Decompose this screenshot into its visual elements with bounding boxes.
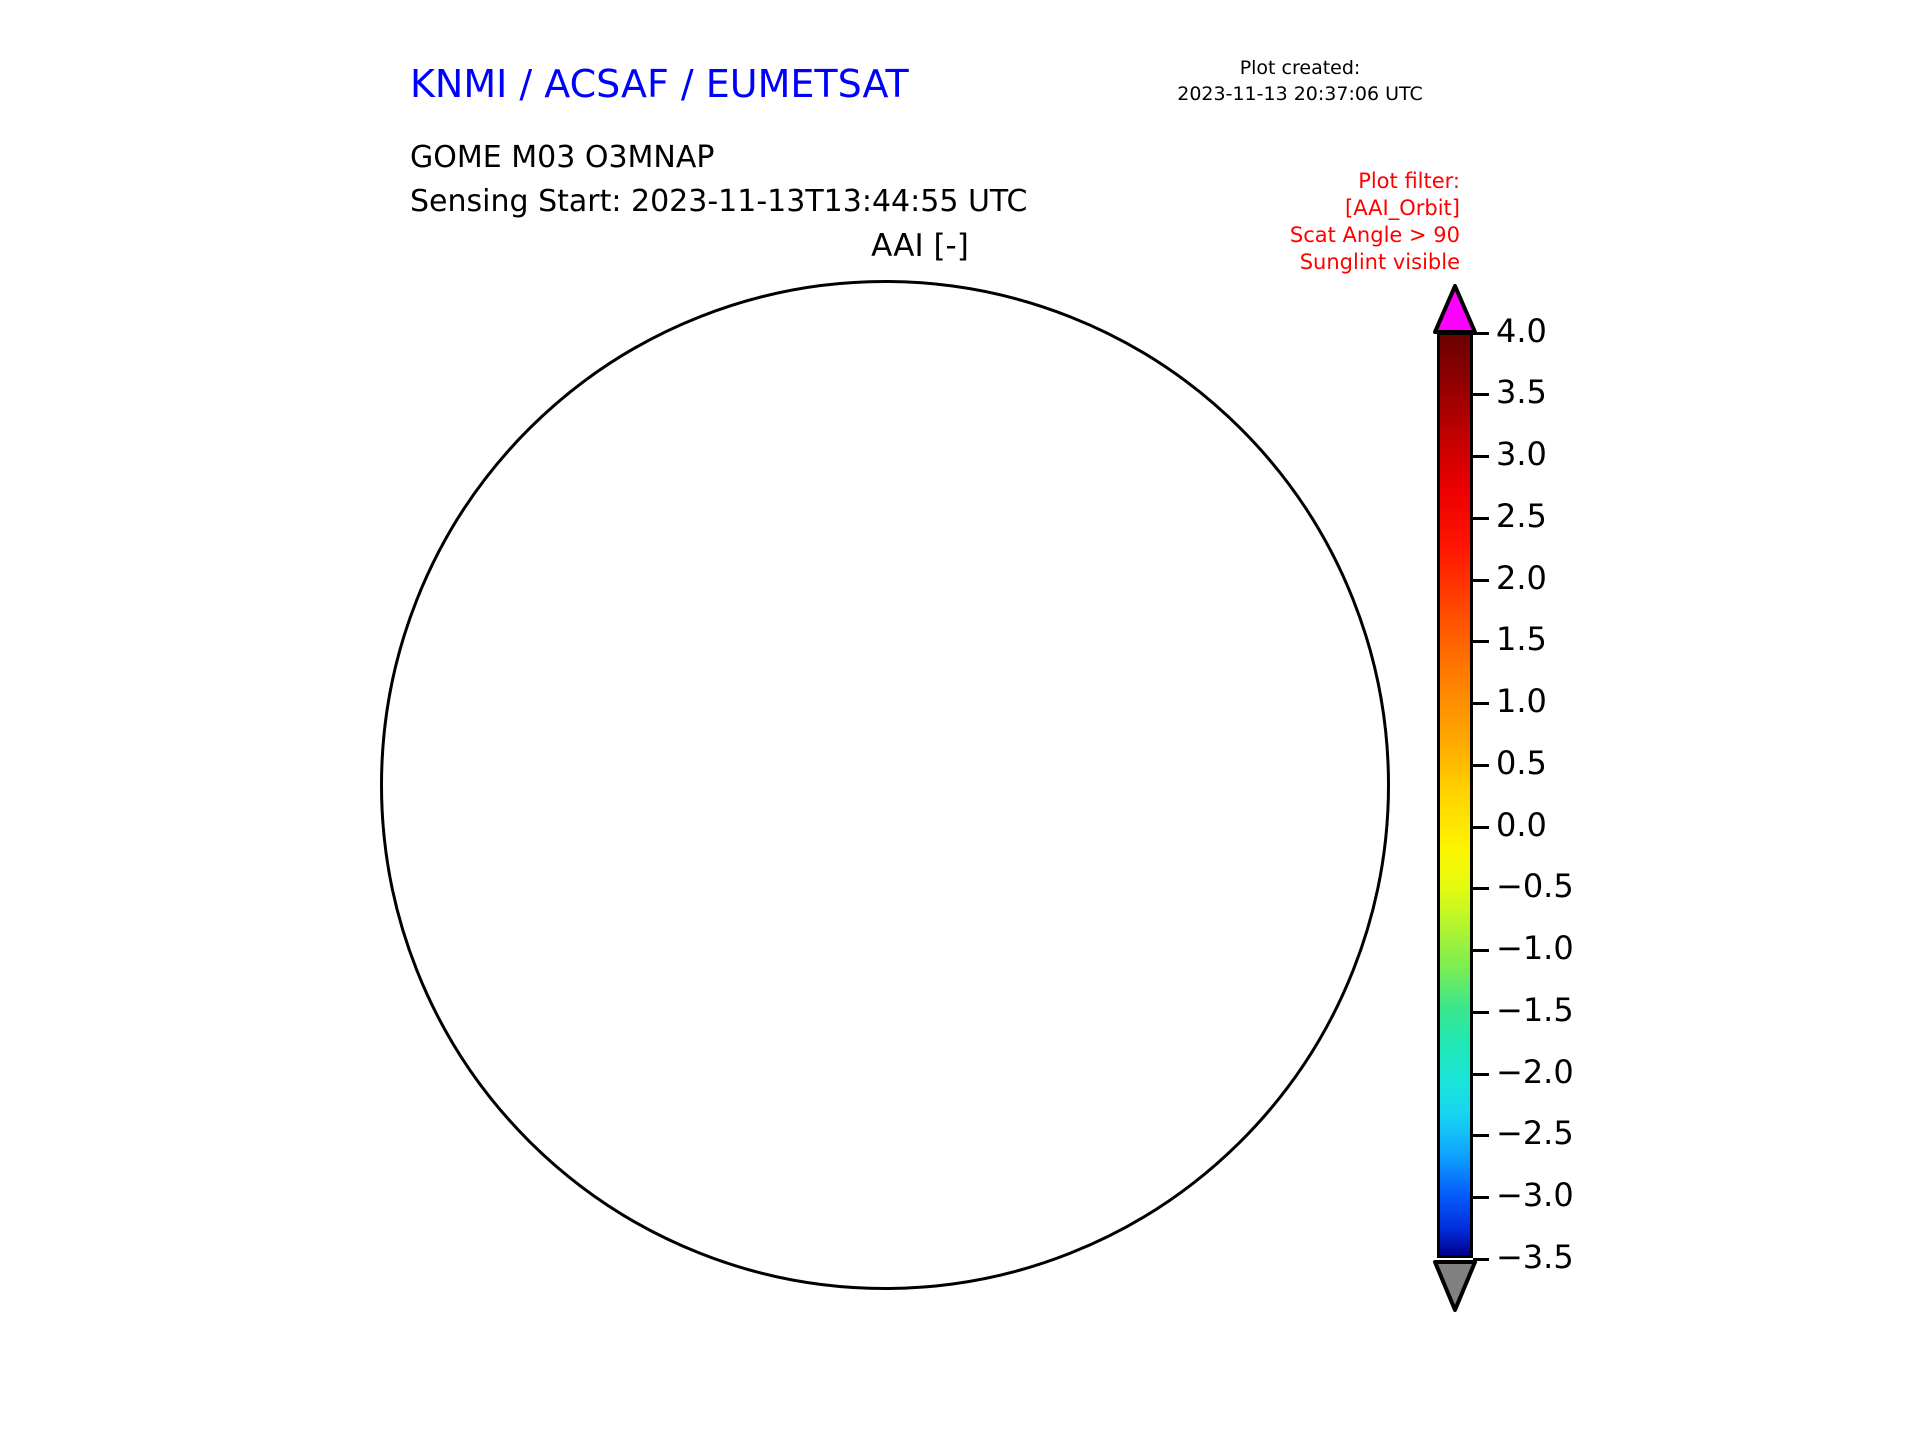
plot-filter-line-1: [AAI_Orbit] (1180, 195, 1460, 222)
colorbar-gradient (1437, 332, 1473, 1258)
sensing-start: Sensing Start: 2023-11-13T13:44:55 UTC (410, 180, 1027, 224)
colorbar-tick-label: −0.5 (1496, 870, 1574, 902)
colorbar-tick-label: 1.0 (1496, 685, 1547, 717)
colorbar-under-arrow-icon (1432, 1252, 1492, 1316)
colorbar-tick-label: 3.0 (1496, 438, 1547, 470)
colorbar-tick (1473, 1134, 1489, 1137)
plot-filter-line-2: Scat Angle > 90 (1180, 222, 1460, 249)
colorbar-tick (1473, 455, 1489, 458)
colorbar-tick (1473, 393, 1489, 396)
colorbar-tick-label: 1.5 (1496, 623, 1547, 655)
colorbar-tick-label: −2.0 (1496, 1056, 1574, 1088)
colorbar-tick (1473, 1073, 1489, 1076)
colorbar-tick-label: 2.5 (1496, 500, 1547, 532)
map-plot-area (370, 270, 1430, 1330)
page-title-organisation: KNMI / ACSAF / EUMETSAT (410, 62, 909, 106)
colorbar-tick (1473, 640, 1489, 643)
dataset-name: GOME M03 O3MNAP (410, 136, 1027, 180)
quantity-title: AAI [-] (600, 228, 1240, 264)
plot-created-block: Plot created: 2023-11-13 20:37:06 UTC (1100, 55, 1500, 107)
colorbar-tick-label: −2.5 (1496, 1117, 1574, 1149)
colorbar-tick (1473, 826, 1489, 829)
colorbar-tick (1473, 1258, 1489, 1261)
colorbar-tick (1473, 1011, 1489, 1014)
colorbar-tick (1473, 764, 1489, 767)
plot-filter-title: Plot filter: (1180, 168, 1460, 195)
colorbar-tick-label: −3.0 (1496, 1179, 1574, 1211)
colorbar-tick-label: −3.5 (1496, 1241, 1574, 1273)
colorbar-tick-label: −1.0 (1496, 932, 1574, 964)
colorbar-tick (1473, 1196, 1489, 1199)
colorbar-tick-label: 0.0 (1496, 809, 1547, 841)
colorbar-tick (1473, 517, 1489, 520)
colorbar-tick (1473, 887, 1489, 890)
plot-filter-block: Plot filter: [AAI_Orbit] Scat Angle > 90… (1180, 168, 1460, 276)
colorbar-tick (1473, 332, 1489, 335)
colorbar-tick-label: 0.5 (1496, 747, 1547, 779)
colorbar-tick-label: 2.0 (1496, 562, 1547, 594)
colorbar: 4.0 3.5 3.0 2.5 2.0 1.5 1.0 0.5 0.0 −0.5… (1430, 280, 1490, 1340)
plot-created-label: Plot created: (1100, 55, 1500, 81)
colorbar-tick (1473, 579, 1489, 582)
colorbar-tick (1473, 702, 1489, 705)
globe-outline-circle (380, 280, 1390, 1290)
colorbar-tick-label: 3.5 (1496, 376, 1547, 408)
colorbar-tick (1473, 949, 1489, 952)
colorbar-tick-label: −1.5 (1496, 994, 1574, 1026)
colorbar-tick-label: 4.0 (1496, 315, 1547, 347)
dataset-info-block: GOME M03 O3MNAP Sensing Start: 2023-11-1… (410, 136, 1027, 224)
plot-created-timestamp: 2023-11-13 20:37:06 UTC (1100, 81, 1500, 107)
